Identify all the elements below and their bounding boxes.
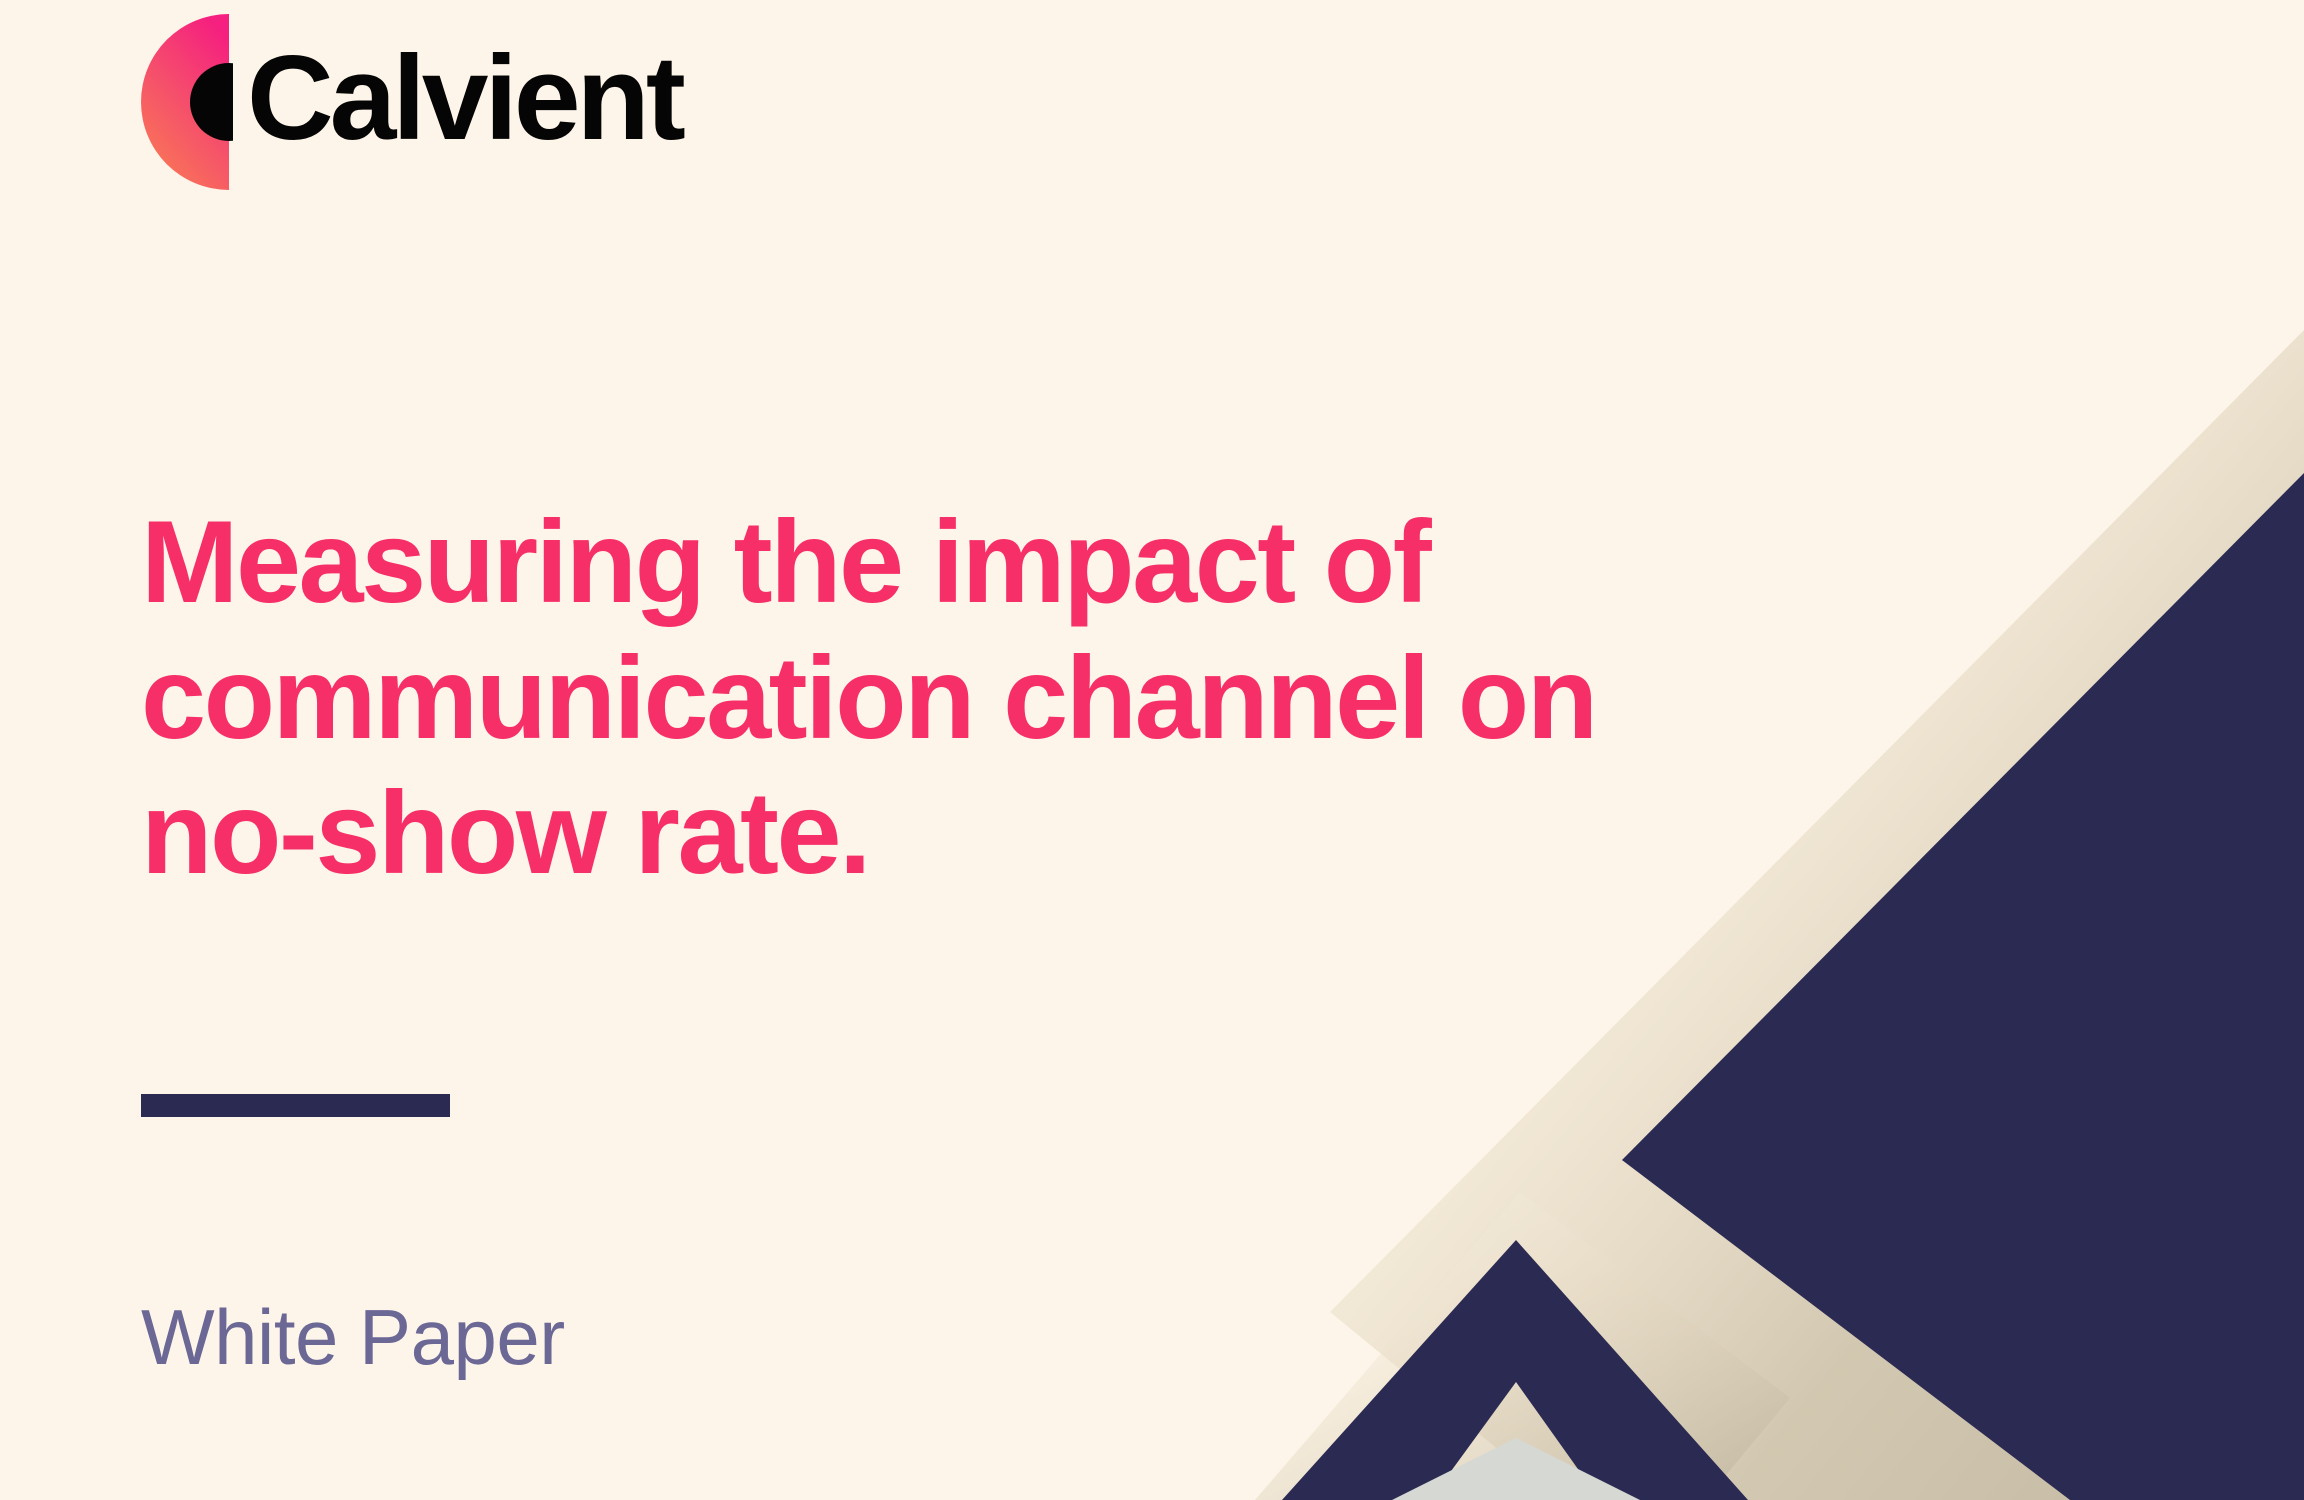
silver-triangle-shape	[1392, 1438, 1640, 1500]
cover-page: Calvient Measuring the impact of communi…	[0, 0, 2304, 1500]
navy-chevron-shape	[1282, 1240, 1748, 1500]
brand-logo[interactable]: Calvient	[141, 14, 682, 190]
document-type-label: White Paper	[141, 1298, 565, 1376]
title-block: Measuring the impact of communication ch…	[141, 494, 1801, 901]
page-title: Measuring the impact of communication ch…	[141, 494, 1801, 901]
chevron-shadow-band	[1255, 1192, 1790, 1500]
calvient-circle-mark	[141, 14, 233, 190]
divider-rule	[141, 1094, 450, 1117]
brand-wordmark: Calvient	[247, 38, 682, 158]
navy-diamond-shape-lower	[1622, 1000, 2304, 1500]
